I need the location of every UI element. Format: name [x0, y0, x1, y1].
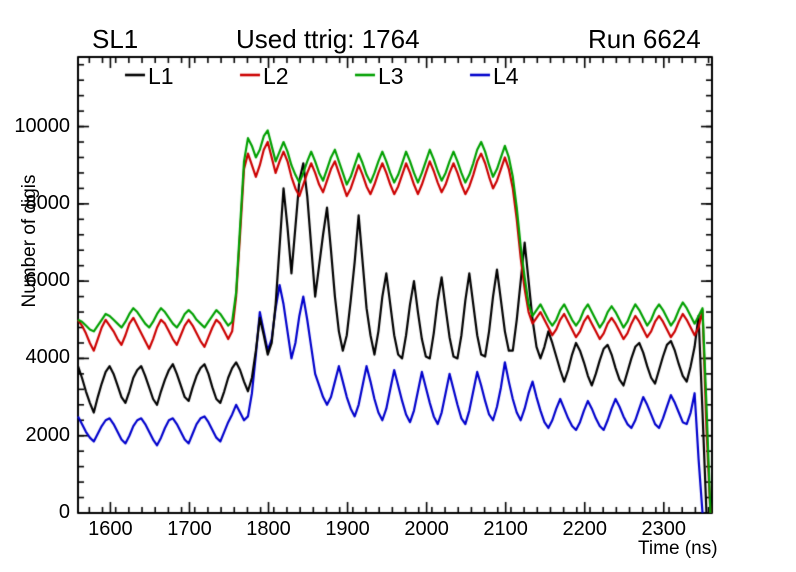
x-tick-label: 1600	[70, 518, 150, 541]
run-title: Run 6624	[588, 24, 701, 55]
y-tick-label: 4000	[2, 346, 70, 369]
legend-label-l3: L3	[378, 63, 404, 90]
plot-container: SL1 Used ttrig: 1764 Run 6624 Number of …	[0, 0, 796, 572]
superlayer-title: SL1	[92, 24, 138, 55]
legend-label-l1: L1	[148, 63, 174, 90]
ttrig-title: Used ttrig: 1764	[236, 24, 420, 55]
x-tick-label: 2000	[387, 518, 467, 541]
x-axis-label: Time (ns)	[638, 538, 718, 560]
y-tick-label: 6000	[2, 269, 70, 292]
x-tick-label: 2100	[466, 518, 546, 541]
x-tick-label: 1700	[149, 518, 229, 541]
y-tick-label: 0	[2, 501, 70, 524]
y-tick-label: 8000	[2, 192, 70, 215]
legend-label-l4: L4	[493, 63, 519, 90]
x-tick-label: 2200	[545, 518, 625, 541]
legend-label-l2: L2	[263, 63, 289, 90]
x-tick-label: 1900	[308, 518, 388, 541]
y-axis-label: Number of digis	[19, 141, 41, 341]
x-tick-label: 1800	[229, 518, 309, 541]
x-tick-label: 2300	[624, 518, 704, 541]
y-tick-label: 2000	[2, 424, 70, 447]
y-tick-label: 10000	[2, 115, 70, 138]
